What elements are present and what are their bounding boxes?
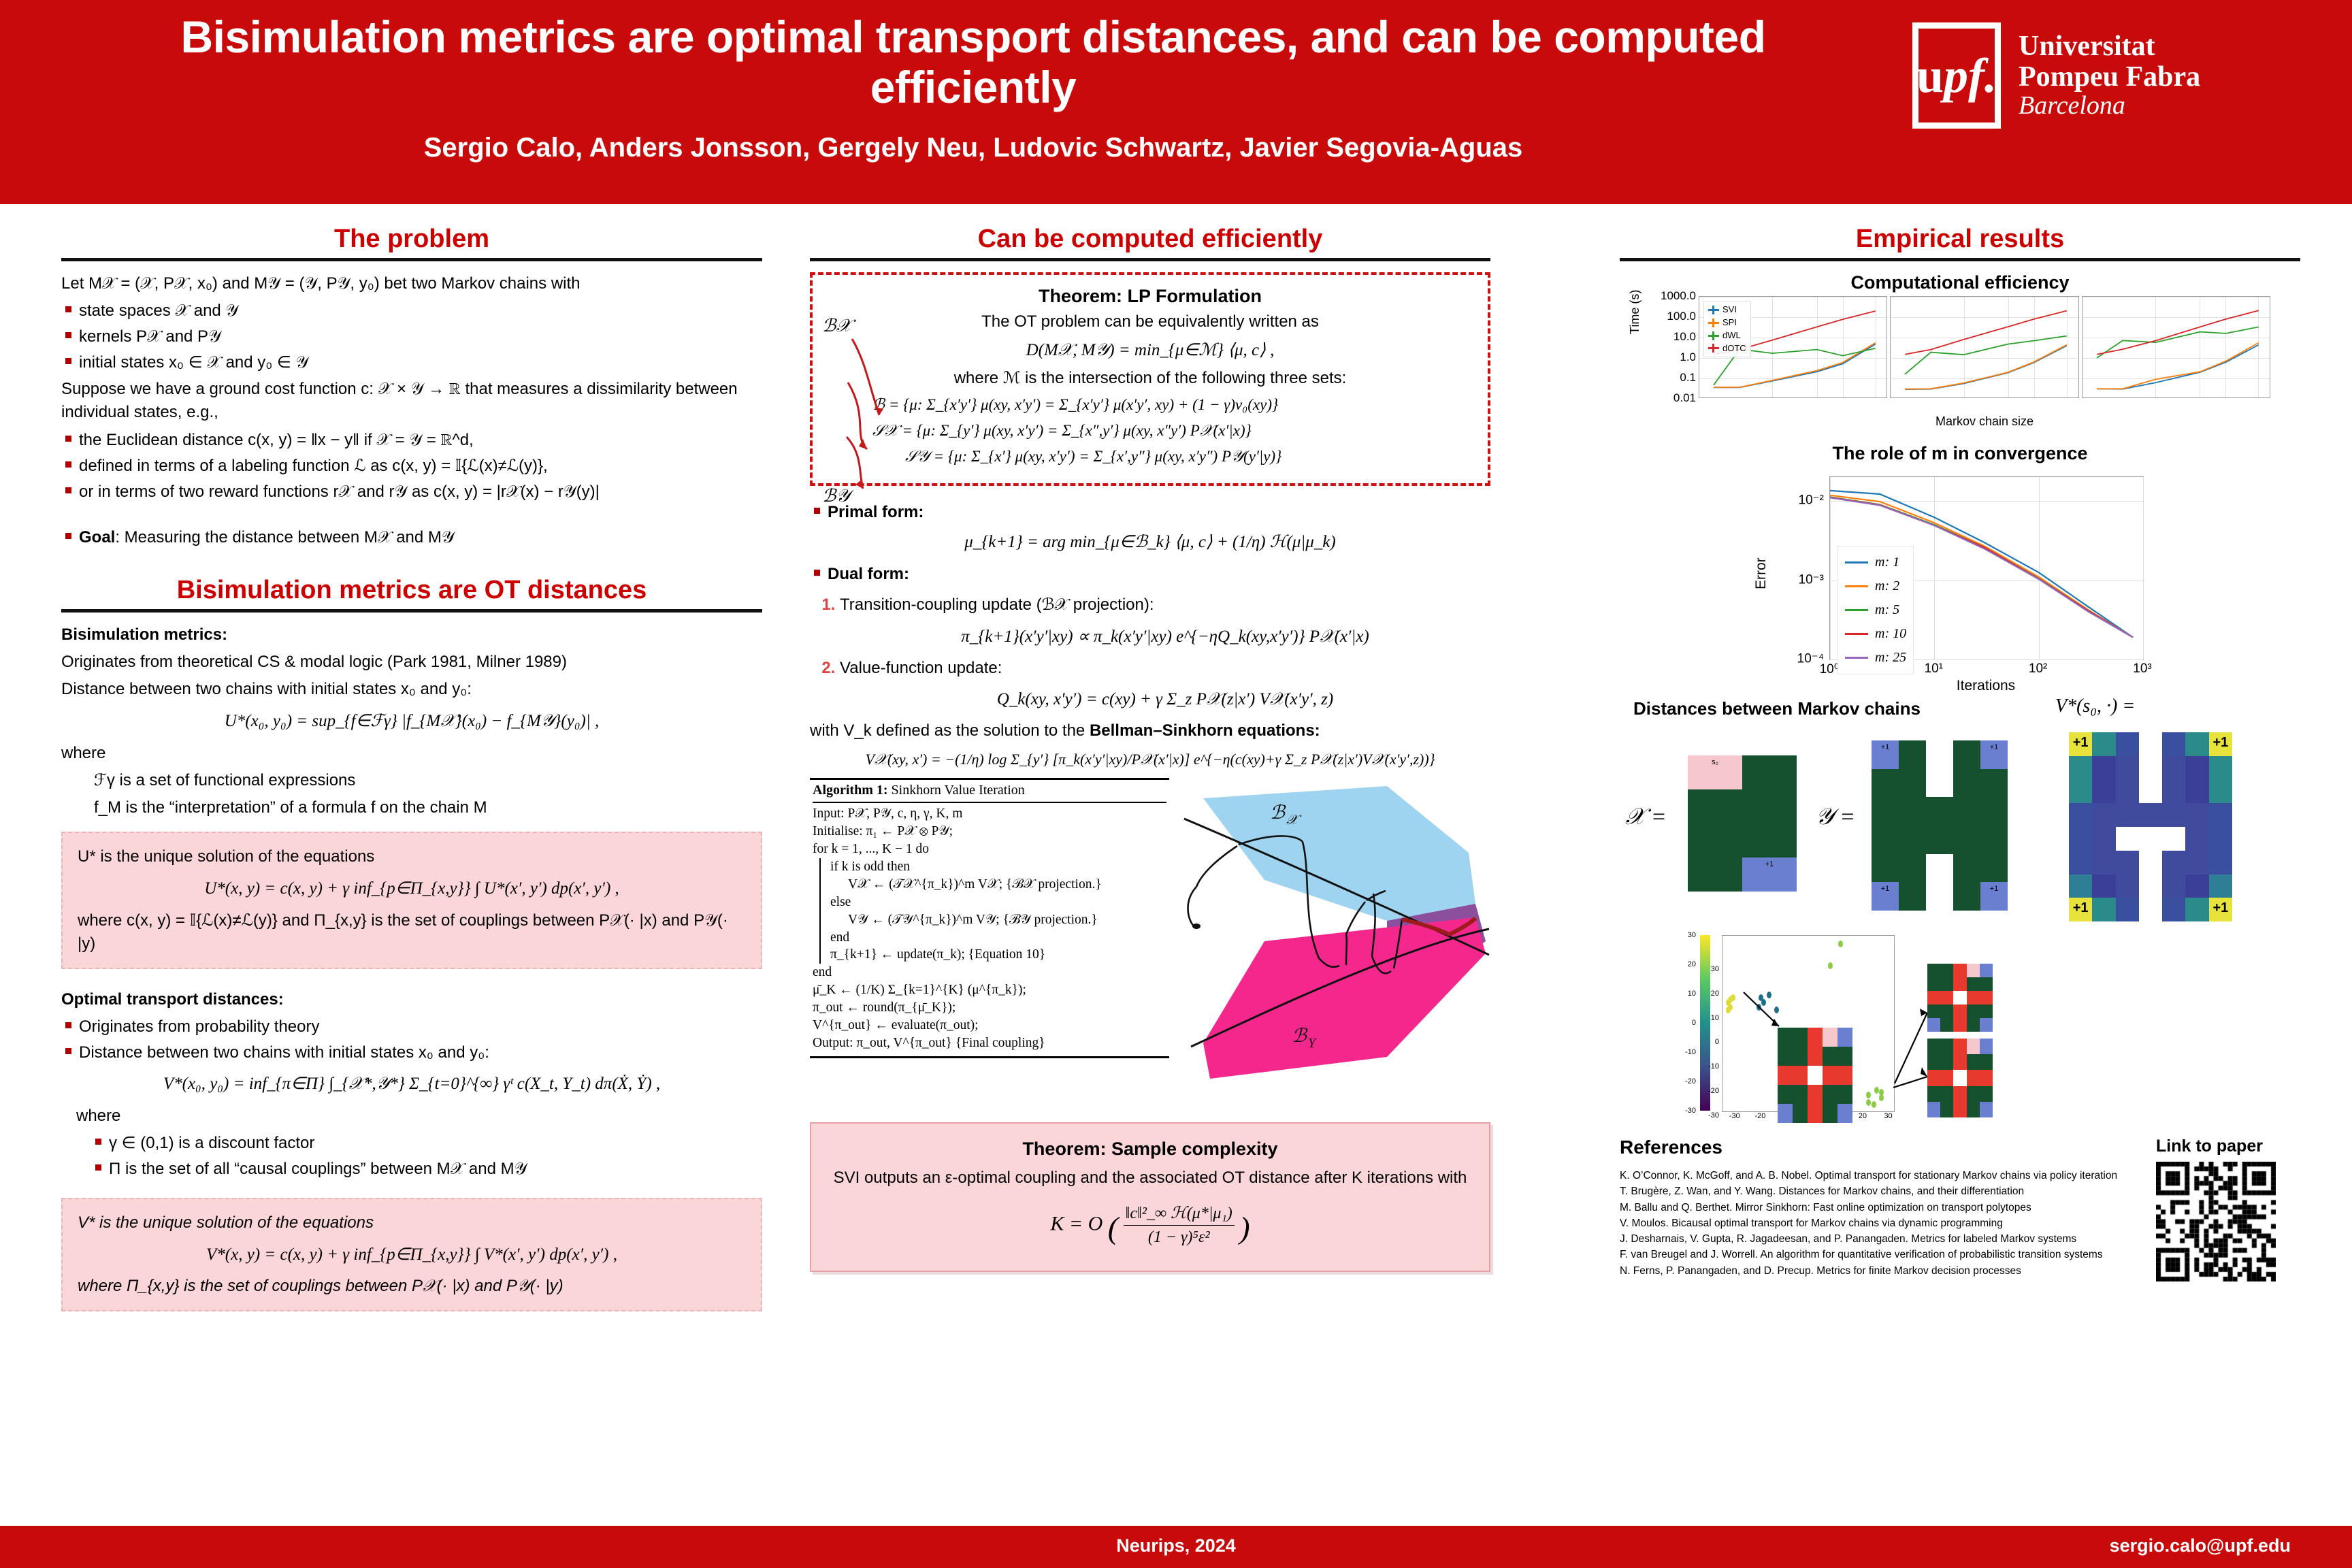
mini-grid-cell	[1967, 1086, 1980, 1102]
algorithm-line: end	[830, 929, 1166, 947]
column-results: Empirical results Computational efficien…	[1620, 225, 2300, 1293]
grid-cell	[2092, 756, 2115, 780]
legend-swatch	[1708, 322, 1719, 324]
grid-cell	[2162, 756, 2185, 780]
chart-1-legend: SVISPIdWLdOTC	[1703, 301, 1751, 357]
projection-sketch-svg: ℬ 𝒳 ℬ Y	[1183, 771, 1490, 1091]
grid-cell	[2162, 827, 2185, 851]
bisim-line-2: Distance between two chains with initial…	[61, 678, 762, 701]
algorithm-line: else	[830, 894, 1166, 911]
gridline	[2143, 477, 2144, 659]
ot-title: Optimal transport distances:	[61, 988, 762, 1011]
scatter-point	[1828, 962, 1833, 969]
scatter-point	[1774, 1007, 1779, 1013]
mini-grid-cell	[1778, 1066, 1793, 1085]
dual-steps: Transition-coupling update (ℬ𝒳 projectio…	[810, 593, 1490, 711]
grid-cell	[1688, 823, 1742, 857]
algorithm-box: Algorithm 1: Sinkhorn Value Iteration In…	[810, 778, 1169, 1058]
legend-entry: dWL	[1708, 329, 1746, 342]
mini-grid-cell	[1778, 1047, 1793, 1066]
chart-2-ylabel: Error	[1753, 557, 1769, 589]
legend-swatch	[1845, 609, 1868, 611]
primal-form-bullet: Primal form:	[810, 501, 1490, 523]
mini-grid-cell	[1980, 964, 1993, 977]
scatter-ytick: 20	[1711, 990, 1719, 998]
goal-text: : Measuring the distance between M𝒳 and …	[115, 528, 454, 546]
grid-cell-label: +1	[2209, 898, 2232, 918]
mini-grid-cell	[1940, 1054, 1953, 1070]
footer-email: sergio.calo@upf.edu	[2110, 1535, 2291, 1556]
mini-grid-cell	[1953, 1086, 1966, 1102]
grid-cell	[2116, 780, 2139, 804]
grid-cell: +1	[1980, 740, 2008, 769]
grid-cell	[2162, 851, 2185, 875]
chart-1-panel: γ = 0.995101525	[2082, 296, 2270, 398]
mini-grid-cell	[1980, 1004, 1993, 1018]
scatter-point	[1866, 1092, 1871, 1098]
markov-grid-value: +1+1+1+1	[2069, 732, 2232, 921]
logo-line-1: Universitat	[2019, 31, 2200, 62]
grid-cell	[1980, 826, 2008, 854]
algorithm-title-rest: Sinkhorn Value Iteration	[888, 783, 1025, 798]
legend-label: dWL	[1722, 329, 1741, 342]
dual-label: Dual form:	[828, 563, 1490, 585]
algorithm-line: π_out ← round(π_{μ̄_K});	[813, 999, 1166, 1017]
vstar-box-line-2: where Π_{x,y} is the set of couplings be…	[78, 1275, 746, 1298]
svg-text:ℬ: ℬ	[1292, 1026, 1308, 1047]
link-to-paper-title: Link to paper	[2156, 1137, 2300, 1156]
column-problem: The problem Let M𝒳 = (𝒳, P𝒳, x₀) and M𝒴 …	[61, 225, 762, 1324]
mini-grid-cell	[1778, 1028, 1793, 1047]
grid-cell	[2116, 756, 2139, 780]
legend-swatch	[1845, 633, 1868, 635]
qr-code-icon[interactable]	[2156, 1162, 2276, 1281]
theorem-sample-body: SVI outputs an ε-optimal coupling and th…	[826, 1166, 1474, 1190]
algorithm-line: for k = 1, ..., K − 1 do	[813, 840, 1166, 858]
mini-grid-cell	[1793, 1028, 1808, 1047]
mini-grid-cell	[1967, 964, 1980, 977]
grid-cell	[1953, 854, 1980, 883]
heading-rule-2	[61, 609, 762, 612]
bellman-intro-a: with V_k defined as the solution to the	[810, 721, 1090, 740]
mini-grid-cell	[1808, 1028, 1823, 1047]
mini-grid-cell	[1953, 1039, 1966, 1054]
chart-1-series	[1891, 297, 2078, 398]
grid-cell: +1	[1742, 857, 1797, 892]
grid-cell	[2209, 827, 2232, 851]
grid-cell	[2116, 898, 2139, 921]
grid-cell: +1	[2069, 732, 2092, 756]
scatter-point	[1866, 1099, 1871, 1106]
poster-title: Bisimulation metrics are optimal transpo…	[102, 12, 1844, 113]
equation-vstar-fixed-point: V*(x, y) = c(x, y) + γ inf_{p∈Π_{x,y}} ∫…	[78, 1243, 746, 1267]
grid-cell: s₀	[1688, 755, 1742, 789]
distances-formula: V*(s₀, ·) =	[2055, 696, 2135, 717]
chart-1-ytick: 1.0	[1680, 350, 1696, 364]
mini-grid-cell	[1980, 1102, 1993, 1117]
equation-transition-coupling: π_{k+1}(x′y′|xy) ∝ π_k(x′y′|xy) e^{−ηQ_k…	[840, 625, 1490, 649]
mini-grid-b	[1927, 964, 1993, 1032]
theorem-sample-title: Theorem: Sample complexity	[826, 1136, 1474, 1162]
grid-cell	[1899, 740, 1926, 769]
where-item: ℱγ is a set of functional expressions	[94, 769, 762, 792]
legend-entry: m: 1	[1845, 551, 1906, 574]
grid-cell-label: +1	[1872, 740, 1899, 755]
scatter-ytick: -20	[1708, 1087, 1719, 1095]
mini-grid-cell	[1823, 1047, 1837, 1066]
legend-label: m: 2	[1875, 574, 1899, 598]
mini-grid-cell	[1927, 1039, 1940, 1054]
list-item: γ ∈ (0,1) is a discount factor	[109, 1132, 762, 1154]
mini-grid-cell	[1793, 1066, 1808, 1085]
mini-grid-cell	[1967, 1102, 1980, 1117]
grid-cell	[1899, 797, 1926, 826]
algorithm-and-sketch: Algorithm 1: Sinkhorn Value Iteration In…	[810, 778, 1490, 1098]
grid-cell	[2209, 756, 2232, 780]
algorithm-line: if k is odd then	[830, 858, 1166, 876]
grid-cell	[1980, 769, 2008, 798]
mini-grid-cell	[1927, 1054, 1940, 1070]
mini-grid-cell	[1823, 1028, 1837, 1047]
vstar-box-line-1: V* is the unique solution of the equatio…	[78, 1211, 746, 1235]
upf-logo-text: Universitat Pompeu Fabra Barcelona	[2019, 31, 2200, 119]
logo-line-2: Pompeu Fabra	[2019, 62, 2200, 93]
mini-grid-cell	[1940, 1102, 1953, 1117]
mini-grid-cell	[1953, 1004, 1966, 1018]
scatter-point	[1872, 1101, 1876, 1108]
equation-primal: μ_{k+1} = arg min_{μ∈ℬ_k} ⟨μ, c⟩ + (1/η)…	[810, 532, 1490, 552]
scatter-xtick: 20	[1859, 1112, 1867, 1120]
legend-entry: m: 25	[1845, 646, 1906, 670]
scatter-yticks: -30-20-100102030	[1692, 935, 1719, 1111]
primal-label-text: Primal form	[828, 503, 918, 521]
step-1: Transition-coupling update (ℬ𝒳 projectio…	[840, 593, 1490, 649]
goal-item: Goal: Measuring the distance between M𝒳 …	[79, 526, 762, 549]
ot-body: Optimal transport distances: Originates …	[61, 988, 762, 1180]
ot-bullets: Originates from probability theory Dista…	[61, 1015, 762, 1064]
chart-convergence: Error 10⁻²10⁻³10⁻⁴ 10⁰10¹10²10³ Iteratio…	[1749, 470, 2171, 694]
mini-grid-cell	[1808, 1104, 1823, 1123]
legend-label: m: 5	[1875, 598, 1899, 622]
problem-intro: Let M𝒳 = (𝒳, P𝒳, x₀) and M𝒴 = (𝒴, P𝒴, y₀…	[61, 272, 762, 295]
grid-cell	[2185, 780, 2208, 804]
section-heading-results: Empirical results	[1620, 225, 2300, 254]
mini-grid-cell	[1953, 1070, 1966, 1085]
theorem-lp-sub: The OT problem can be equivalently writt…	[825, 312, 1475, 331]
markov-grid-y: +1+1+1+1	[1872, 740, 2008, 911]
grid-cell	[2092, 898, 2115, 921]
ot-where-label: where	[61, 1105, 762, 1128]
grid-cell	[1899, 882, 1926, 911]
mini-grid-cell	[1940, 1070, 1953, 1085]
grid-cell	[2139, 898, 2162, 921]
chart-2-xlabel: Iterations	[1829, 678, 2142, 694]
legend-swatch	[1708, 309, 1719, 311]
grid-cell	[2092, 851, 2115, 875]
grid-cell	[1926, 797, 1953, 826]
scatter-point	[1879, 1094, 1884, 1101]
legend-entry: dOTC	[1708, 342, 1746, 355]
ustar-box: U* is the unique solution of the equatio…	[61, 832, 762, 969]
poster-footer: Neurips, 2024 sergio.calo@upf.edu	[0, 1526, 2352, 1568]
grid-cell	[2069, 756, 2092, 780]
grid-cell	[2116, 803, 2139, 827]
legend-swatch	[1845, 585, 1868, 587]
chart-2-xtick: 10¹	[1925, 661, 1943, 676]
mini-grid-cell	[1980, 1054, 1993, 1070]
curved-arrows-icon	[840, 335, 949, 505]
grid-cell	[2185, 898, 2208, 921]
mini-grid-cell	[1980, 1018, 1993, 1032]
where-label: where	[61, 742, 762, 765]
mini-grid-cell	[1778, 1085, 1793, 1104]
grid-cell	[2162, 732, 2185, 756]
chart-computational-efficiency: Time (s) 1000.0100.010.01.00.10.01 γ = 0…	[1632, 296, 2285, 425]
scatter-ytick: -10	[1708, 1062, 1719, 1071]
grid-cell	[2092, 780, 2115, 804]
chart-2-ytick: 10⁻³	[1799, 572, 1825, 587]
chart-2-xtick: 10²	[2029, 661, 2047, 676]
mini-grid-c	[1927, 1039, 1993, 1117]
algorithm-line: Input: P𝒳, P𝒴, c, η, γ, K, m	[813, 805, 1166, 823]
grid-cell	[1872, 826, 1899, 854]
mini-grid-cell	[1778, 1104, 1793, 1123]
algorithm-line: μ̄_K ← (1/K) Σ_{k=1}^{K} (μ^{π_k});	[813, 981, 1166, 999]
bellman-intro: with V_k defined as the solution to the …	[810, 719, 1490, 742]
mini-grid-cell	[1927, 1070, 1940, 1085]
grid-cell: +1	[2069, 898, 2092, 921]
legend-entry: m: 2	[1845, 574, 1906, 598]
x-set-label: 𝒳 =	[1625, 804, 1667, 830]
grid-cell	[2185, 756, 2208, 780]
scatter-ytick: 30	[1711, 965, 1719, 973]
mini-grid-cell	[1940, 977, 1953, 991]
step-2: Value-function update: Q_k(xy, x′y′) = c…	[840, 657, 1490, 712]
scatter-ytick: 10	[1711, 1014, 1719, 1022]
eq-denominator: (1 − γ)⁵ε²	[1124, 1226, 1235, 1249]
equation-bellman-sinkhorn: V𝒳(xy, x′) = −(1/η) log Σ_{y′} [π_k(x′y′…	[810, 751, 1490, 768]
chart-2-ytick: 10⁻²	[1799, 493, 1825, 508]
legend-entry: m: 10	[1845, 622, 1906, 646]
bisim-line-1: Originates from theoretical CS & modal l…	[61, 651, 762, 674]
bisim-metrics-title: Bisimulation metrics:	[61, 623, 762, 647]
grid-cell	[2139, 875, 2162, 898]
mini-grid-cell	[1837, 1047, 1852, 1066]
chart-1-ytick: 1000.0	[1661, 289, 1696, 303]
link-to-paper[interactable]: Link to paper	[2156, 1137, 2300, 1281]
grid-cell	[2069, 875, 2092, 898]
list-item: initial states x₀ ∈ 𝒳 and y₀ ∈ 𝒴	[79, 351, 762, 374]
grid-cell	[1926, 826, 1953, 854]
distances-header: Distances between Markov chains V*(s₀, ·…	[1620, 698, 2300, 725]
grid-cell	[1899, 826, 1926, 854]
where-items: ℱγ is a set of functional expressions f_…	[61, 769, 762, 819]
section-heading-bisim: Bisimulation metrics are OT distances	[61, 576, 762, 605]
grid-cell	[2092, 827, 2115, 851]
mini-grid-cell	[1967, 1039, 1980, 1054]
grid-cell: +1	[1980, 882, 2008, 911]
chart-1-panel: γ = 0.95101525	[1890, 296, 2078, 398]
mini-grid-cell	[1980, 991, 1993, 1004]
mini-grid-cell	[1940, 1018, 1953, 1032]
grid-cell	[1926, 769, 1953, 798]
list-item: state spaces 𝒳 and 𝒴	[79, 299, 762, 322]
mini-grid-cell	[1837, 1066, 1852, 1085]
grid-cell	[2069, 827, 2092, 851]
theorem-lp-title: Theorem: LP Formulation	[825, 286, 1475, 307]
ot-where-items: γ ∈ (0,1) is a discount factor Π is the …	[61, 1132, 762, 1180]
footer-venue: Neurips, 2024	[0, 1535, 2352, 1556]
chart-1-panel: γ = 0.755101525SVISPIdWLdOTC	[1699, 296, 1887, 398]
mini-grid-cell	[1940, 1039, 1953, 1054]
eq-lhs: K = O	[1050, 1212, 1102, 1235]
legend-swatch	[1708, 335, 1719, 337]
mini-grid-cell	[1793, 1104, 1808, 1123]
algorithm-line: Initialise: π₁ ← P𝒳 ⊗ P𝒴;	[813, 823, 1166, 840]
distances-title: Distances between Markov chains	[1633, 698, 1921, 719]
goal-label: Goal	[79, 528, 115, 546]
grid-cell	[1688, 789, 1742, 823]
mini-grid-cell	[1823, 1104, 1837, 1123]
chart-1-yticks: 1000.0100.010.01.00.10.01	[1637, 296, 1696, 398]
list-item: defined in terms of a labeling function …	[79, 455, 762, 477]
chart-1-panels: γ = 0.755101525SVISPIdWLdOTCγ = 0.951015…	[1699, 296, 2270, 398]
list-item: Originates from probability theory	[79, 1015, 762, 1038]
scatter-ytick: -30	[1708, 1111, 1719, 1120]
legend-swatch	[1845, 561, 1868, 563]
chart-embedding-scatter: -30-20-100102030 -30-20-100102030 -30-20…	[1620, 926, 2287, 1130]
algorithm-loop-body: if k is odd then V𝒳 ← (𝒯𝒳^{π_k})^m V𝒳; {…	[819, 858, 1166, 964]
grid-cell	[1953, 797, 1980, 826]
grid-cell	[1899, 854, 1926, 883]
mini-grid-cell	[1953, 977, 1966, 991]
list-item: Distance between two chains with initial…	[79, 1041, 762, 1064]
legend-label: SVI	[1722, 304, 1737, 316]
grid-cell-label: +1	[1872, 882, 1899, 896]
grid-cell	[2209, 803, 2232, 827]
ustar-box-line-2: where c(x, y) = 𝕀{ℒ(x)≠ℒ(y)} and Π_{x,y}…	[78, 909, 746, 955]
mini-grid-cell	[1980, 1086, 1993, 1102]
list-item: Π is the set of all “causal couplings” b…	[109, 1158, 762, 1180]
mini-grid-cell	[1967, 1054, 1980, 1070]
grid-cell	[1926, 882, 1953, 911]
equation-ustar-sup: U*(x₀, y₀) = sup_{f∈ℱγ} |f_{M𝒳}(x₀) − f_…	[61, 709, 762, 734]
references-block: References K. O’Connor, K. McGoff, and A…	[1620, 1137, 2300, 1293]
chart-1-ytick: 0.1	[1680, 371, 1696, 385]
grid-cell	[2139, 803, 2162, 827]
grid-cell	[2092, 803, 2115, 827]
grid-cell-label: +1	[1980, 882, 2008, 896]
grid-cell	[1980, 797, 2008, 826]
grid-cell-label: +1	[2209, 732, 2232, 753]
legend-swatch	[1845, 657, 1868, 659]
grid-cell	[2162, 780, 2185, 804]
scatter-ytick: 0	[1715, 1038, 1719, 1046]
mini-grid-cell	[1793, 1047, 1808, 1066]
svg-text:ℬ: ℬ	[1270, 802, 1286, 823]
grid-cell	[2209, 780, 2232, 804]
grid-cell	[2185, 803, 2208, 827]
equation-ustar-fixed-point: U*(x, y) = c(x, y) + γ inf_{p∈Π_{x,y}} ∫…	[78, 877, 746, 901]
label-bx: ℬ𝒳	[822, 316, 851, 337]
legend-entry: SPI	[1708, 316, 1746, 329]
step-1-text: Transition-coupling update (ℬ𝒳 projectio…	[840, 595, 1154, 614]
algorithm-title-bold: Algorithm 1:	[813, 783, 888, 798]
poster-header: Bisimulation metrics are optimal transpo…	[0, 0, 2352, 204]
algorithm-line: V𝒴 ← (𝒯𝒴^{π_k})^m V𝒴; {ℬ𝒴 projection.}	[830, 911, 1166, 929]
grid-cell	[2162, 803, 2185, 827]
list-item: or in terms of two reward functions r𝒳 a…	[79, 480, 762, 503]
mini-grid-cell	[1808, 1066, 1823, 1085]
upf-logo: upf. Universitat Pompeu Fabra Barcelona	[1912, 18, 2293, 133]
problem-body: Let M𝒳 = (𝒳, P𝒳, x₀) and M𝒴 = (𝒴, P𝒴, y₀…	[61, 272, 762, 549]
heading-rule-4	[1620, 258, 2300, 261]
primal-label: Primal form:	[828, 501, 1490, 523]
grid-cell	[2209, 875, 2232, 898]
grid-cell	[1872, 769, 1899, 798]
grid-cell	[2162, 875, 2185, 898]
grid-cell	[1688, 857, 1742, 892]
grid-cell	[1742, 789, 1797, 823]
mini-grid-cell	[1953, 964, 1966, 977]
chart-1-xlabel: Markov chain size	[1699, 414, 2270, 429]
legend-label: dOTC	[1722, 342, 1746, 355]
grid-cell	[1980, 854, 2008, 883]
grid-cell	[2185, 875, 2208, 898]
list-item: kernels P𝒳 and P𝒴	[79, 325, 762, 348]
equation-vstar-inf: V*(x₀, y₀) = inf_{π∈Π} ∫_{𝒳*,𝒴*} Σ_{t=0}…	[61, 1072, 762, 1096]
mini-grid-cell	[1808, 1085, 1823, 1104]
grid-cell: +1	[1872, 740, 1899, 769]
grid-cell	[2185, 851, 2208, 875]
legend-entry: SVI	[1708, 304, 1746, 316]
algorithm-line: V𝒳 ← (𝒯𝒳^{π_k})^m V𝒳; {ℬ𝒳 projection.}	[830, 876, 1166, 894]
grid-cell-label: +1	[1742, 857, 1797, 872]
scatter-point	[1761, 999, 1766, 1006]
qr-canvas	[2156, 1162, 2276, 1281]
mini-grid-cell	[1823, 1085, 1837, 1104]
svg-text:Y: Y	[1308, 1036, 1317, 1051]
grid-cell	[2139, 780, 2162, 804]
mini-grid-cell	[1927, 1086, 1940, 1102]
mini-grid-cell	[1980, 977, 1993, 991]
legend-entry: m: 5	[1845, 598, 1906, 622]
section-heading-efficiency: Can be computed efficiently	[810, 225, 1490, 254]
mini-grid-cell	[1953, 1054, 1966, 1070]
mini-grid-cell	[1967, 977, 1980, 991]
chart-1-title: Computational efficiency	[1620, 272, 2300, 293]
chart-2-yticks: 10⁻²10⁻³10⁻⁴	[1772, 476, 1825, 659]
scatter-point	[1726, 1007, 1731, 1013]
chart-1-ytick: 0.01	[1673, 391, 1696, 405]
chart-1-ytick: 100.0	[1667, 310, 1696, 323]
grid-cell	[1953, 882, 1980, 911]
bisim-body: Bisimulation metrics: Originates from th…	[61, 623, 762, 819]
grid-cell	[1872, 854, 1899, 883]
mini-grid-cell	[1967, 1018, 1980, 1032]
algorithm-line: Output: π_out, V^{π_out} {Final coupling…	[813, 1034, 1166, 1052]
grid-cell	[2092, 732, 2115, 756]
chart-2-xtick: 10³	[2133, 661, 2151, 676]
scatter-point	[1838, 941, 1843, 947]
grid-cell	[1926, 740, 1953, 769]
grid-cell	[2139, 827, 2162, 851]
vstar-box: V* is the unique solution of the equatio…	[61, 1198, 762, 1312]
mini-grid-cell	[1823, 1066, 1837, 1085]
mini-grid-cell	[1927, 991, 1940, 1004]
grid-cell-label: +1	[2069, 898, 2092, 918]
legend-label: m: 10	[1875, 622, 1906, 646]
